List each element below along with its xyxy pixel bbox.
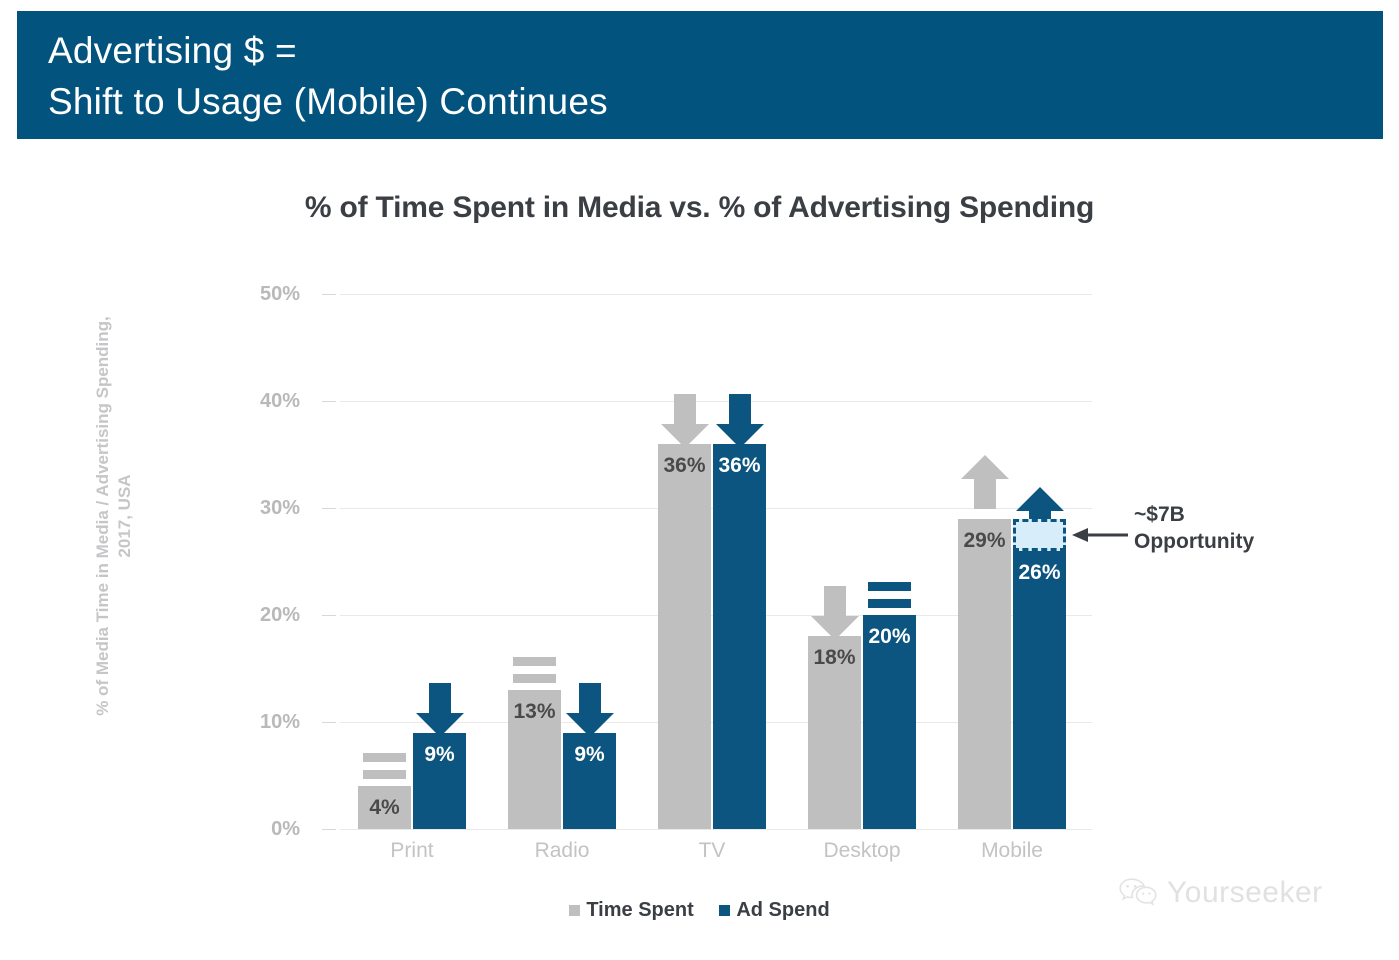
y-tick-mark: [322, 615, 336, 616]
bar-value-label: 20%: [863, 625, 916, 649]
opportunity-box: [1013, 519, 1066, 551]
bar-value-label: 9%: [413, 743, 466, 767]
legend-swatch-time-spent: [569, 905, 580, 916]
bar-value-label: 26%: [1013, 561, 1066, 585]
y-axis-title: % of Media Time in Media / Advertising S…: [92, 306, 136, 726]
bar-tv-time-spent[interactable]: [658, 444, 711, 829]
y-tick-mark: [322, 722, 336, 723]
chart-region: % of Time Spent in Media vs. % of Advert…: [0, 139, 1399, 960]
y-axis-tick-label: 20%: [240, 604, 300, 627]
bar-chart-plot: % of Media Time in Media / Advertising S…: [0, 139, 1399, 960]
y-axis-tick-label: 40%: [240, 390, 300, 413]
down-arrow-indicator-icon: [415, 681, 465, 739]
opportunity-callout: ~$7B Opportunity: [1134, 501, 1254, 555]
equals-indicator-icon: [513, 657, 556, 683]
y-axis-tick-label: 50%: [240, 283, 300, 306]
bar-mobile-time-spent[interactable]: [958, 519, 1011, 829]
down-arrow-indicator-icon: [715, 392, 765, 450]
x-axis-label-mobile: Mobile: [957, 839, 1067, 863]
bar-value-label: 9%: [563, 743, 616, 767]
bar-value-label: 36%: [658, 454, 711, 478]
x-axis-label-desktop: Desktop: [807, 839, 917, 863]
bar-value-label: 13%: [508, 700, 561, 724]
y-axis-tick-label: 0%: [240, 818, 300, 841]
gridline: [340, 829, 1092, 830]
legend-label-time-spent: Time Spent: [586, 899, 693, 921]
x-axis-label-radio: Radio: [507, 839, 617, 863]
bar-value-label: 29%: [958, 529, 1011, 553]
x-axis-label-print: Print: [357, 839, 467, 863]
down-arrow-indicator-icon: [660, 392, 710, 450]
y-tick-mark: [322, 508, 336, 509]
legend-swatch-ad-spend: [719, 905, 730, 916]
header-banner: Advertising $ = Shift to Usage (Mobile) …: [17, 11, 1383, 139]
y-tick-mark: [322, 829, 336, 830]
equals-indicator-icon: [868, 582, 911, 608]
y-axis-tick-label: 10%: [240, 711, 300, 734]
equals-indicator-icon: [363, 753, 406, 779]
header-title-line-2: Shift to Usage (Mobile) Continues: [48, 76, 1383, 127]
y-tick-mark: [322, 294, 336, 295]
down-arrow-indicator-icon: [565, 681, 615, 739]
down-arrow-indicator-icon: [810, 584, 860, 642]
bar-mobile-ad-spend[interactable]: [1013, 551, 1066, 829]
bar-tv-ad-spend[interactable]: [713, 444, 766, 829]
wechat-icon: [1118, 876, 1158, 910]
header-title-line-1: Advertising $ =: [48, 25, 1383, 76]
watermark: Yourseeker: [1118, 876, 1323, 910]
y-tick-mark: [322, 401, 336, 402]
opportunity-label: Opportunity: [1134, 528, 1254, 555]
watermark-text: Yourseeker: [1167, 876, 1323, 910]
x-axis-label-tv: TV: [657, 839, 767, 863]
bar-value-label: 36%: [713, 454, 766, 478]
opportunity-arrow-icon: [1072, 525, 1130, 545]
bar-value-label: 4%: [358, 796, 411, 820]
up-arrow-indicator-icon: [960, 453, 1010, 511]
legend-label-ad-spend: Ad Spend: [736, 899, 829, 921]
legend-item-time-spent[interactable]: Time Spent: [569, 899, 693, 922]
y-axis-tick-label: 30%: [240, 497, 300, 520]
legend-item-ad-spend[interactable]: Ad Spend: [719, 899, 829, 922]
gridline: [340, 294, 1092, 295]
opportunity-amount: ~$7B: [1134, 501, 1254, 528]
bar-value-label: 18%: [808, 646, 861, 670]
